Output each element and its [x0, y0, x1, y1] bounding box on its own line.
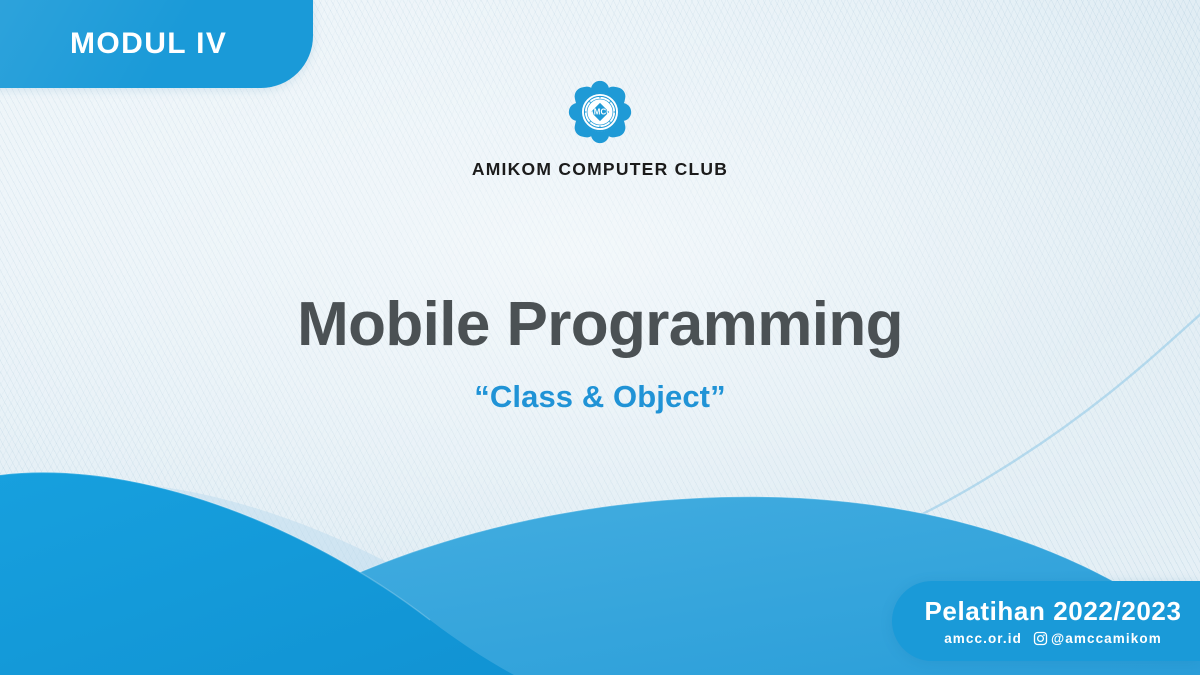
footer-badge-content: Pelatihan 2022/2023 amcc.or.id @amccamik…	[892, 581, 1200, 661]
presentation-slide: MODUL IV	[0, 0, 1200, 675]
title-block: Mobile Programming “Class & Object”	[0, 288, 1200, 416]
footer-website[interactable]: amcc.or.id	[944, 631, 1022, 646]
footer-social[interactable]: @amccamikom	[1033, 631, 1162, 646]
module-badge-label: MODUL IV	[70, 21, 227, 67]
slide-subtitle: “Class & Object”	[0, 378, 1200, 416]
logo-center-text: AMCC	[588, 108, 612, 117]
slide-title: Mobile Programming	[0, 288, 1200, 362]
amcc-rosette-logo-icon: AMCC	[562, 74, 638, 150]
footer-title: Pelatihan 2022/2023	[924, 596, 1181, 627]
footer-badge: Pelatihan 2022/2023 amcc.or.id @amccamik…	[892, 581, 1200, 661]
brand-logo-block: AMCC AMIKOM COMPUTER CLUB	[0, 74, 1200, 180]
brand-wordmark: AMIKOM COMPUTER CLUB	[0, 159, 1200, 180]
footer-links: amcc.or.id @amccamikom	[944, 631, 1162, 646]
instagram-icon	[1033, 631, 1048, 646]
footer-social-handle: @amccamikom	[1051, 631, 1162, 646]
